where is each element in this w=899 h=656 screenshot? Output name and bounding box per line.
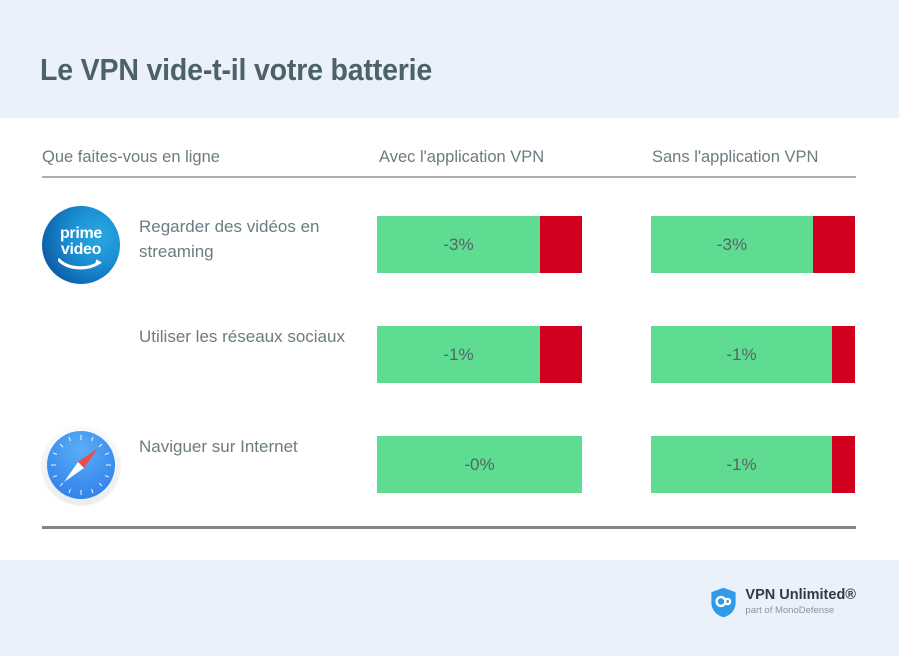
- column-header-without-vpn: Sans l'application VPN: [652, 148, 818, 167]
- amazon-smile-icon: [58, 256, 104, 272]
- prime-logo-line1: prime: [42, 226, 120, 242]
- bar-value: -1%: [651, 326, 832, 383]
- table-row: Naviguer sur Internet -0% -1%: [0, 420, 899, 512]
- bar-value: -1%: [651, 436, 832, 493]
- bar-without-vpn: -1%: [651, 326, 855, 383]
- header-divider: [42, 176, 856, 178]
- brand-subtitle: part of MonoDefense: [745, 606, 856, 616]
- table-row: Utiliser les réseaux sociaux -1% -1%: [0, 310, 899, 402]
- bar-value: -1%: [377, 326, 540, 383]
- bar-with-vpn: -1%: [377, 326, 582, 383]
- bar-with-vpn: -3%: [377, 216, 582, 273]
- shield-icon: [710, 587, 737, 618]
- bar-value: -3%: [377, 216, 540, 273]
- bar-without-vpn: -3%: [651, 216, 855, 273]
- bar-value: -0%: [377, 436, 582, 493]
- footer-band: VPN Unlimited® part of MonoDefense: [0, 560, 899, 656]
- prime-video-icon: prime video: [42, 206, 120, 284]
- instagram-icon: [42, 316, 120, 394]
- column-header-activity: Que faites-vous en ligne: [42, 148, 220, 167]
- row-label: Naviguer sur Internet: [139, 434, 369, 459]
- comparison-card: Que faites-vous en ligne Avec l'applicat…: [0, 118, 899, 560]
- row-label: Regarder des vidéos en streaming: [139, 214, 369, 264]
- page-title: Le VPN vide-t-il votre batterie: [40, 52, 432, 88]
- row-label: Utiliser les réseaux sociaux: [139, 324, 369, 349]
- bar-without-vpn: -1%: [651, 436, 855, 493]
- brand-name: VPN Unlimited®: [745, 588, 856, 604]
- brand-logo[interactable]: VPN Unlimited® part of MonoDefense: [710, 587, 856, 618]
- table-row: prime video Regarder des vidéos en strea…: [0, 200, 899, 292]
- bar-value: -3%: [651, 216, 813, 273]
- header-band: Le VPN vide-t-il votre batterie: [0, 0, 899, 118]
- column-header-with-vpn: Avec l'application VPN: [379, 148, 544, 167]
- safari-icon: [42, 426, 120, 504]
- bar-with-vpn: -0%: [377, 436, 582, 493]
- footer-divider: [42, 526, 856, 529]
